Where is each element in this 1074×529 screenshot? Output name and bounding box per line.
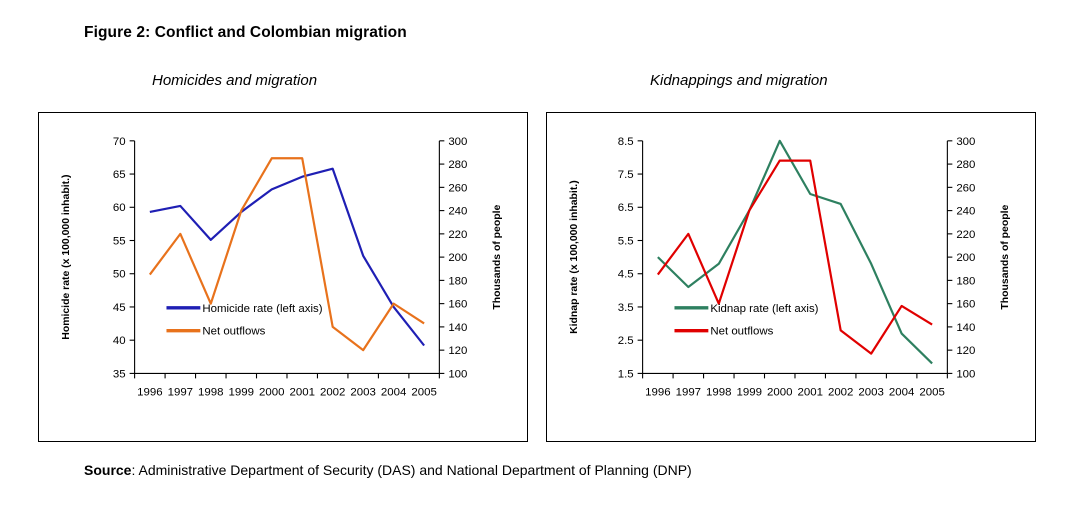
left-axis-tick-label: 6.5: [618, 202, 634, 214]
right-axis-tick-label: 100: [956, 368, 975, 380]
legend-label-0: Homicide rate (left axis): [202, 303, 322, 315]
right-axis-title: Thousands of people: [1000, 205, 1011, 310]
left-axis-tick-label: 35: [113, 368, 126, 380]
left-axis-tick-label: 1.5: [618, 368, 634, 380]
right-axis-tick-label: 260: [448, 182, 467, 194]
right-axis-tick-label: 160: [956, 299, 975, 311]
series-line-net-outflows: [658, 161, 932, 354]
left-axis-title: Homicide rate (x 100,000 inhabit.): [61, 175, 72, 340]
right-axis-tick-label: 240: [956, 206, 975, 218]
homicides-chart-svg: 3540455055606570100120140160180200220240…: [39, 113, 527, 441]
left-axis-tick-label: 8.5: [618, 136, 634, 148]
x-axis-tick-label: 2004: [381, 386, 407, 398]
left-axis-tick-label: 45: [113, 302, 126, 314]
right-axis-tick-label: 160: [448, 299, 467, 311]
right-axis-tick-label: 180: [956, 275, 975, 287]
x-axis-tick-label: 1998: [198, 386, 223, 398]
source-note: Source: Administrative Department of Sec…: [84, 462, 692, 478]
x-axis-tick-label: 2000: [259, 386, 284, 398]
left-axis-tick-label: 60: [113, 202, 126, 214]
right-axis-tick-label: 140: [956, 322, 975, 334]
right-axis-tick-label: 280: [448, 159, 467, 171]
left-axis-tick-label: 2.5: [618, 335, 634, 347]
right-axis-tick-label: 300: [448, 136, 467, 148]
left-axis-tick-label: 55: [113, 235, 126, 247]
x-axis-tick-label: 2003: [350, 386, 375, 398]
legend-label-0: Kidnap rate (left axis): [710, 303, 818, 315]
chart-panel-homicides: 3540455055606570100120140160180200220240…: [38, 112, 528, 442]
right-axis-tick-label: 280: [956, 159, 975, 171]
x-axis-tick-label: 2005: [919, 386, 944, 398]
x-axis-tick-label: 1999: [737, 386, 762, 398]
chart-panel-kidnappings: 1.52.53.54.55.56.57.58.51001201401601802…: [546, 112, 1036, 442]
chart-right-subtitle: Kidnappings and migration: [650, 72, 828, 89]
left-axis-tick-label: 7.5: [618, 169, 634, 181]
legend-label-1: Net outflows: [202, 326, 265, 338]
right-axis-tick-label: 200: [448, 252, 467, 264]
right-axis-tick-label: 200: [956, 252, 975, 264]
x-axis-tick-label: 2001: [289, 386, 314, 398]
right-axis-tick-label: 240: [448, 206, 467, 218]
series-line-net-outflows: [150, 158, 424, 350]
x-axis-tick-label: 2003: [858, 386, 883, 398]
right-axis-tick-label: 100: [448, 368, 467, 380]
x-axis-tick-label: 1998: [706, 386, 731, 398]
left-axis-tick-label: 4.5: [618, 269, 634, 281]
x-axis-tick-label: 1996: [137, 386, 162, 398]
x-axis-tick-label: 2000: [767, 386, 792, 398]
x-axis-tick-label: 2005: [411, 386, 436, 398]
left-axis-tick-label: 3.5: [618, 302, 634, 314]
left-axis-tick-label: 5.5: [618, 235, 634, 247]
x-axis-tick-label: 1999: [229, 386, 254, 398]
right-axis-tick-label: 220: [956, 229, 975, 241]
x-axis-tick-label: 2002: [320, 386, 345, 398]
right-axis-tick-label: 140: [448, 322, 467, 334]
chart-plot-homicides: 3540455055606570100120140160180200220240…: [39, 113, 527, 441]
x-axis-tick-label: 2001: [797, 386, 822, 398]
right-axis-tick-label: 300: [956, 136, 975, 148]
right-axis-title: Thousands of people: [492, 205, 503, 310]
source-text: : Administrative Department of Security …: [131, 462, 691, 478]
left-axis-title: Kidnap rate (x 100,000 inhabit.): [569, 180, 580, 334]
x-axis-tick-label: 1996: [645, 386, 670, 398]
left-axis-tick-label: 50: [113, 269, 126, 281]
right-axis-tick-label: 180: [448, 275, 467, 287]
right-axis-tick-label: 220: [448, 229, 467, 241]
x-axis-tick-label: 1997: [168, 386, 193, 398]
right-axis-tick-label: 260: [956, 182, 975, 194]
kidnappings-chart-svg: 1.52.53.54.55.56.57.58.51001201401601802…: [547, 113, 1035, 441]
x-axis-tick-label: 2004: [889, 386, 915, 398]
x-axis-tick-label: 1997: [676, 386, 701, 398]
left-axis-tick-label: 70: [113, 136, 126, 148]
right-axis-tick-label: 120: [448, 345, 467, 357]
x-axis-tick-label: 2002: [828, 386, 853, 398]
left-axis-tick-label: 65: [113, 169, 126, 181]
legend-label-1: Net outflows: [710, 326, 773, 338]
figure-title: Figure 2: Conflict and Colombian migrati…: [84, 24, 407, 42]
chart-left-subtitle: Homicides and migration: [152, 72, 317, 89]
source-label: Source: [84, 462, 131, 478]
right-axis-tick-label: 120: [956, 345, 975, 357]
left-axis-tick-label: 40: [113, 335, 126, 347]
chart-plot-kidnappings: 1.52.53.54.55.56.57.58.51001201401601802…: [547, 113, 1035, 441]
